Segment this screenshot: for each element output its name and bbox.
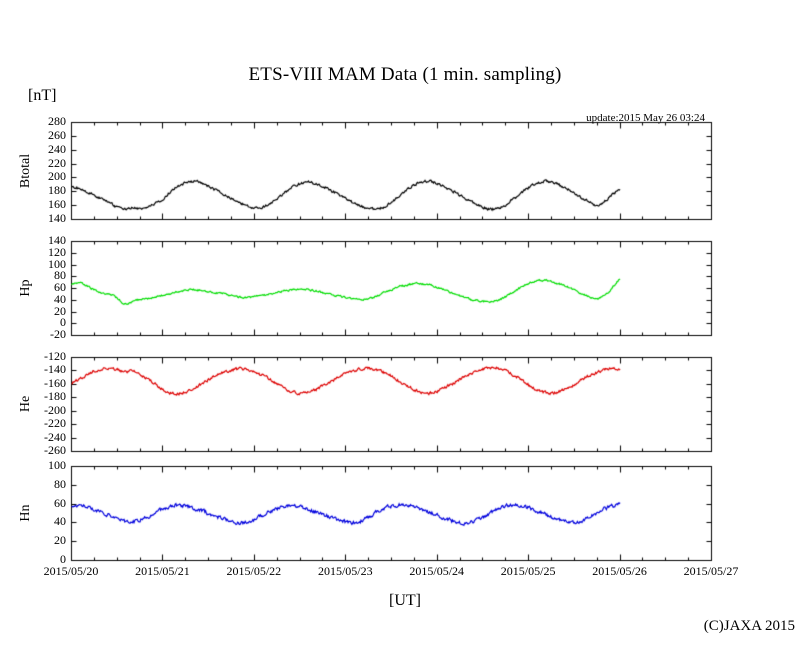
- y-unit-label: [nT]: [28, 87, 56, 105]
- y-axis-label-hp: Hp: [18, 279, 34, 296]
- y-axis-label-he: He: [18, 396, 34, 412]
- x-tick-2015-05-25: 2015/05/25: [478, 564, 578, 579]
- x-tick-2015-05-22: 2015/05/22: [204, 564, 304, 579]
- y-axis-label-btotal: Btotal: [18, 153, 34, 187]
- y-tick-hn-20: 20: [0, 533, 66, 548]
- y-tick-btotal-160: 160: [0, 197, 66, 212]
- x-tick-2015-05-23: 2015/05/23: [295, 564, 395, 579]
- x-tick-2015-05-21: 2015/05/21: [112, 564, 212, 579]
- y-tick-hp-140: 140: [0, 233, 66, 248]
- y-axis-label-hn: Hn: [18, 504, 34, 521]
- x-tick-2015-05-24: 2015/05/24: [387, 564, 487, 579]
- x-tick-2015-05-26: 2015/05/26: [570, 564, 670, 579]
- y-tick-btotal-260: 260: [0, 128, 66, 143]
- x-axis-label: [UT]: [0, 592, 810, 610]
- y-tick-he--140: -140: [0, 362, 66, 377]
- y-tick-he--120: -120: [0, 349, 66, 364]
- plot-page: ETS-VIII MAM Data (1 min. sampling) [nT]…: [0, 0, 810, 655]
- y-tick-btotal-140: 140: [0, 211, 66, 226]
- copyright-notice: (C)JAXA 2015: [0, 618, 795, 635]
- y-tick-he--220: -220: [0, 416, 66, 431]
- y-tick-btotal-280: 280: [0, 114, 66, 129]
- x-tick-2015-05-20: 2015/05/20: [21, 564, 121, 579]
- magnetometer-plot-canvas: [0, 0, 810, 655]
- x-tick-2015-05-27: 2015/05/27: [661, 564, 761, 579]
- chart-title: ETS-VIII MAM Data (1 min. sampling): [0, 64, 810, 86]
- y-tick-he--240: -240: [0, 430, 66, 445]
- update-timestamp: update:2015 May 26 03:24: [0, 112, 705, 124]
- y-tick-hn-100: 100: [0, 458, 66, 473]
- y-tick-he--160: -160: [0, 376, 66, 391]
- y-tick-he--260: -260: [0, 443, 66, 458]
- y-tick-hn-80: 80: [0, 477, 66, 492]
